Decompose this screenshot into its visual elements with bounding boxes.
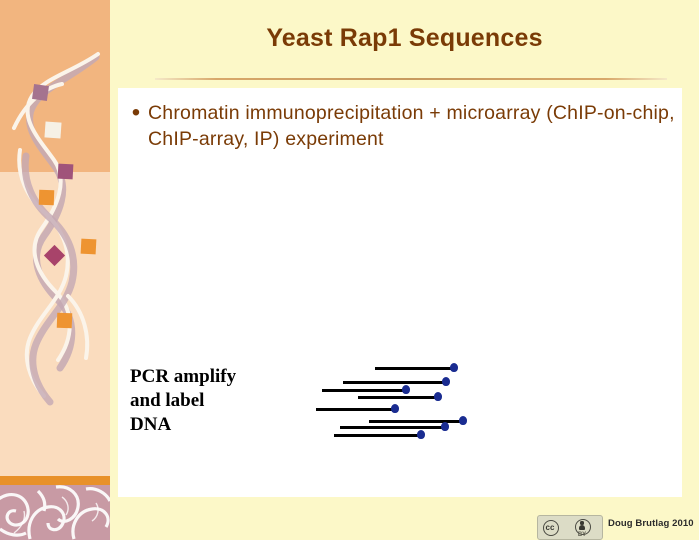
fragment-label-dot [402, 385, 410, 394]
dna-fragment [334, 434, 420, 437]
bullet-item: • Chromatin immunoprecipitation + microa… [124, 100, 676, 152]
fragment-label-dot [442, 377, 450, 386]
decorative-sidebar [0, 0, 110, 540]
dna-fragment [316, 408, 394, 411]
bullet-text: Chromatin immunoprecipitation + microarr… [148, 100, 676, 152]
fragment-label-dot [434, 392, 442, 401]
dna-fragment [358, 396, 437, 399]
cc-by-label: BY [564, 532, 600, 539]
sidebar-mid-block [0, 172, 110, 476]
author-credit: Doug Brutlag 2010 [608, 518, 694, 529]
fragment-label-dot [441, 422, 449, 431]
bullet-marker: • [124, 100, 148, 126]
cc-label: cc [543, 522, 557, 533]
dna-fragment [322, 389, 405, 392]
floral-pattern-icon [0, 485, 110, 540]
fragment-label-dot [391, 404, 399, 413]
title-divider [155, 78, 667, 80]
fragment-label-dot [417, 430, 425, 439]
sidebar-top-block [0, 0, 110, 172]
content-panel: • Chromatin immunoprecipitation + microa… [118, 88, 682, 497]
dna-fragment [375, 367, 453, 370]
fragment-label-dot [450, 363, 458, 372]
sidebar-floral-band [0, 485, 110, 540]
fragment-label-dot [459, 416, 467, 425]
dna-fragment [343, 381, 445, 384]
sidebar-orange-band [0, 476, 110, 485]
person-body-icon [579, 525, 585, 530]
slide-canvas: Yeast Rap1 Sequences • Chromatin immunop… [0, 0, 699, 540]
dna-fragment [340, 426, 444, 429]
creative-commons-badge[interactable]: cc BY [537, 515, 603, 540]
dna-fragment-diagram [316, 358, 496, 438]
dna-fragment [369, 420, 462, 423]
page-title: Yeast Rap1 Sequences [110, 24, 699, 53]
pcr-amplify-caption: PCR amplify and label DNA [130, 365, 236, 437]
